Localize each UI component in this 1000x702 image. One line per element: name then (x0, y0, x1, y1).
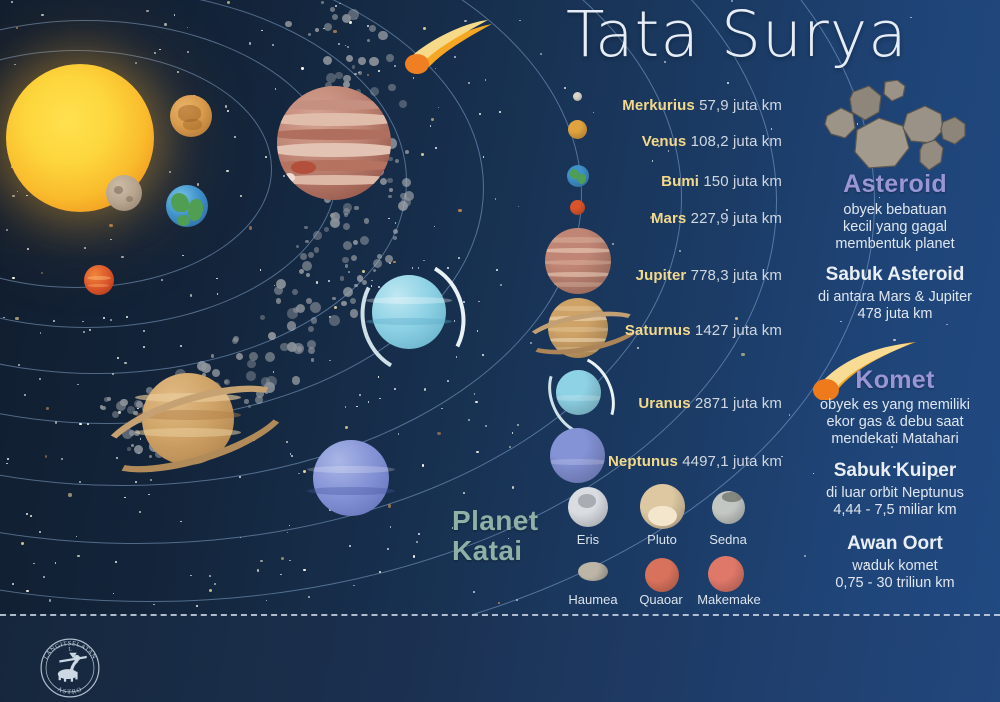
dwarf-planet-makemake (708, 556, 744, 592)
svg-text:L: L (68, 647, 71, 653)
svg-text:ASTRO: ASTRO (56, 686, 83, 696)
dwarf-planet-label-pluto: Pluto (638, 532, 686, 547)
dwarf-planet-label-haumea: Haumea (562, 592, 624, 607)
dwarf-planet-label-makemake: Makemake (694, 592, 764, 607)
footer-bar: LANGITSELATAN ASTRO L langitselatan (0, 614, 1000, 702)
dwarf-planet-label-sedna: Sedna (702, 532, 754, 547)
dwarf-planet-pluto (640, 484, 685, 529)
dwarf-planet-label-eris: Eris (568, 532, 608, 547)
dwarf-planet-haumea (578, 562, 608, 581)
langitselatan-logo-icon: LANGITSELATAN ASTRO L (32, 630, 108, 702)
dwarf-planet-sedna (712, 491, 745, 524)
dwarf-planet-eris (568, 487, 608, 527)
dwarf-planet-label-quaoar: Quaoar (628, 592, 694, 607)
dwarf-planet-quaoar (645, 558, 679, 592)
infographic-poster: Tata Surya Merkurius 57,9 juta kmVenus 1… (0, 0, 1000, 702)
dwarf-planet-list: ErisPlutoSednaHaumeaQuaoarMakemake (0, 0, 1000, 702)
